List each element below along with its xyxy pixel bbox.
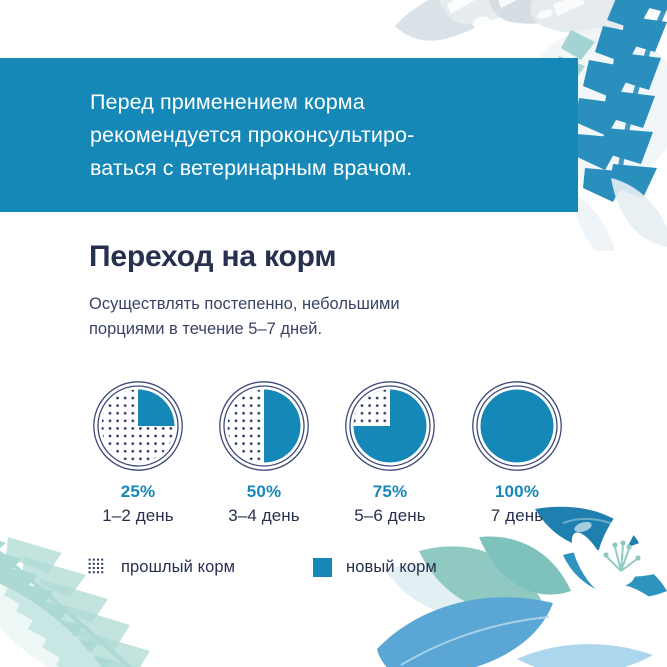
pie-day-25: 1–2 день <box>68 503 208 529</box>
pie-percent-25: 25% <box>68 481 208 503</box>
pie-label-group-25: 25% 1–2 день <box>68 481 208 529</box>
legend-item-old-food: прошлый корм <box>88 550 235 584</box>
fern-frond-decoration-bottom-left <box>0 527 246 667</box>
pie-chart-50 <box>217 379 311 473</box>
pie-day-75: 5–6 день <box>320 503 460 529</box>
pie-chart-100 <box>470 379 564 473</box>
pie-label-group-50: 50% 3–4 день <box>194 481 334 529</box>
pie-percent-50: 50% <box>194 481 334 503</box>
advisory-banner-text: Перед применением корма рекомендуется пр… <box>0 86 438 185</box>
pie-percent-75: 75% <box>320 481 460 503</box>
page-subtitle: Осуществлять постепенно, небольшими порц… <box>0 274 667 342</box>
legend-label-new-food: новый корм <box>346 558 437 577</box>
legend: прошлый корм новый корм <box>0 550 667 584</box>
legend-item-new-food: новый корм <box>313 550 437 584</box>
pie-chart-25 <box>91 379 185 473</box>
transition-pie-row <box>0 379 667 479</box>
infographic-page: Перед применением корма рекомендуется пр… <box>0 0 667 667</box>
pie-label-group-75: 75% 5–6 день <box>320 481 460 529</box>
main-content: Переход на корм Осуществлять постепенно,… <box>0 212 667 342</box>
dotted-swatch-icon <box>88 558 107 577</box>
solid-swatch-icon <box>313 558 332 577</box>
pie-label-group-100: 100% 7 день <box>447 481 587 529</box>
pie-day-50: 3–4 день <box>194 503 334 529</box>
advisory-banner: Перед применением корма рекомендуется пр… <box>0 58 578 212</box>
pie-chart-75 <box>343 379 437 473</box>
page-title: Переход на корм <box>0 212 667 274</box>
pie-percent-100: 100% <box>447 481 587 503</box>
pie-day-100: 7 день <box>447 503 587 529</box>
legend-label-old-food: прошлый корм <box>121 558 235 577</box>
